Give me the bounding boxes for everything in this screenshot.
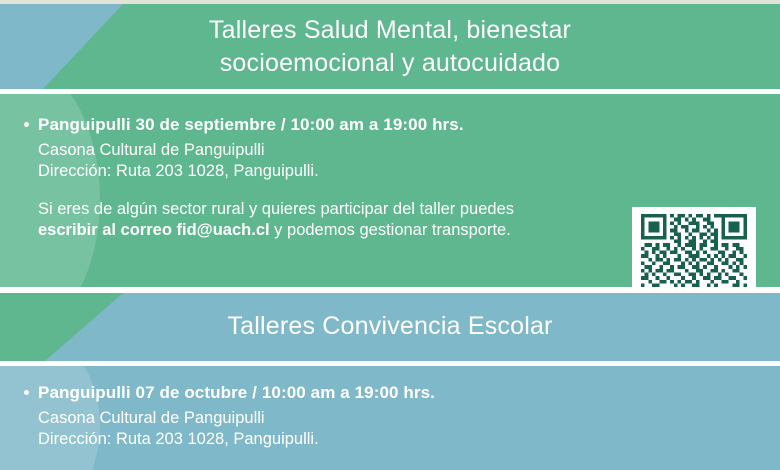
section-1-note-part-1: Si eres de algún sector rural y quieres … xyxy=(38,200,514,218)
banner-1-title-line-1: Talleres Salud Mental, bienestar xyxy=(0,14,780,47)
banner-2-title: Talleres Convivencia Escolar xyxy=(0,310,780,343)
section-salud-mental: Panguipulli 30 de septiembre / 10:00 am … xyxy=(0,94,780,287)
section-1-note: Si eres de algún sector rural y quieres … xyxy=(24,199,533,241)
section-1-note-email: escribir al correo fid@uach.cl xyxy=(38,221,270,239)
section-2-text-block: Panguipulli 07 de octubre / 10:00 am a 1… xyxy=(24,382,435,450)
bullet-dot-icon xyxy=(24,390,29,395)
qr-code-icon xyxy=(639,214,749,287)
banner-salud-mental: Talleres Salud Mental, bienestar socioem… xyxy=(0,4,780,89)
section-1-text-block: Panguipulli 30 de septiembre / 10:00 am … xyxy=(24,114,533,241)
bullet-dot-icon xyxy=(24,122,29,127)
section-2-venue-line-2: Dirección: Ruta 203 1028, Panguipulli. xyxy=(24,429,435,450)
banner-1-title: Talleres Salud Mental, bienestar socioem… xyxy=(0,14,780,80)
qr-code-registration-1[interactable] xyxy=(632,207,756,287)
section-2-venue-line-1: Casona Cultural de Panguipulli xyxy=(24,408,435,429)
poster-canvas: Talleres Salud Mental, bienestar socioem… xyxy=(0,0,780,470)
section-1-date-text: Panguipulli 30 de septiembre / 10:00 am … xyxy=(38,115,464,134)
section-1-date-bullet: Panguipulli 30 de septiembre / 10:00 am … xyxy=(24,114,533,136)
section-convivencia-escolar: Panguipulli 07 de octubre / 10:00 am a 1… xyxy=(0,366,780,470)
section-1-note-part-2: y podemos gestionar transporte. xyxy=(270,221,511,239)
section-2-date-text: Panguipulli 07 de octubre / 10:00 am a 1… xyxy=(38,383,435,402)
section-1-venue-line-1: Casona Cultural de Panguipulli xyxy=(24,140,533,161)
section-2-date-bullet: Panguipulli 07 de octubre / 10:00 am a 1… xyxy=(24,382,435,404)
section-1-venue-line-2: Dirección: Ruta 203 1028, Panguipulli. xyxy=(24,161,533,182)
banner-convivencia-escolar: Talleres Convivencia Escolar xyxy=(0,293,780,361)
banner-1-title-line-2: socioemocional y autocuidado xyxy=(0,47,780,80)
